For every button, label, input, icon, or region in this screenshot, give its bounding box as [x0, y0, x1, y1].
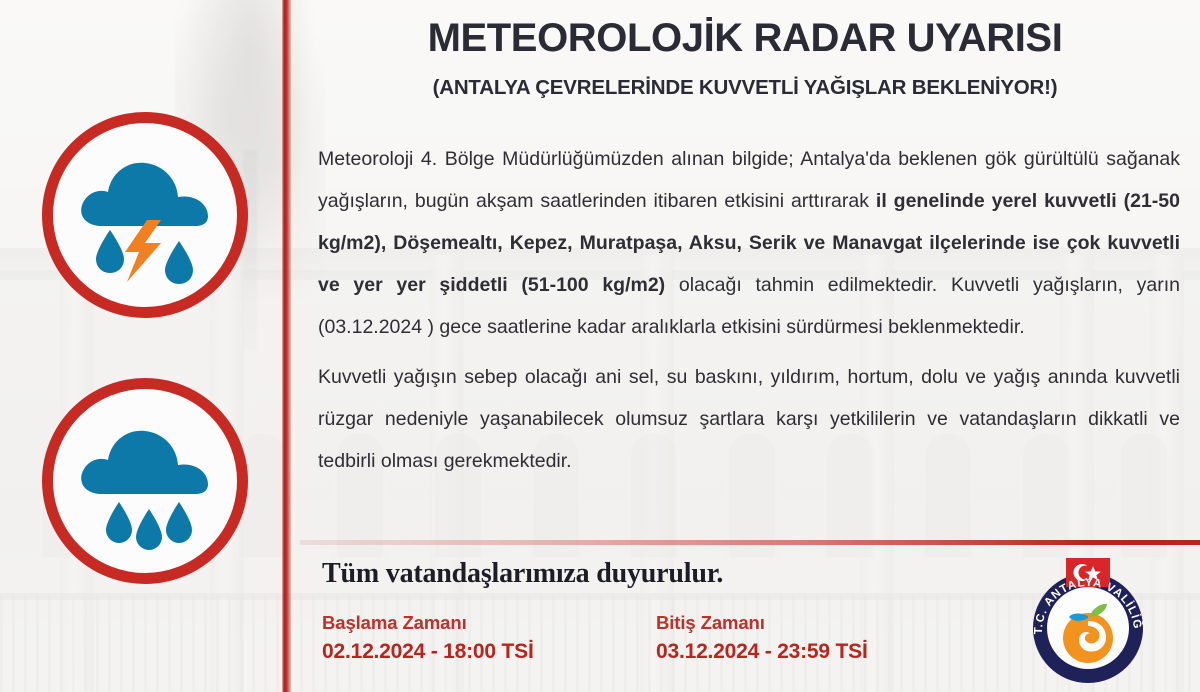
icon-rail: [0, 0, 286, 692]
thunderstorm-icon: [69, 140, 221, 290]
rain-cloud-icon-badge: [42, 378, 248, 584]
announcement-text: Tüm vatandaşlarımıza duyurulur.: [322, 558, 723, 590]
end-time-value: 03.12.2024 - 23:59 TSİ: [656, 640, 896, 664]
warning-paragraph-2: Kuvvetli yağışın sebep olacağı ani sel, …: [318, 356, 1180, 482]
warning-paragraph-1: Meteoroloji 4. Bölge Müdürlüğümüzden alı…: [318, 138, 1180, 348]
page-subtitle: (ANTALYA ÇEVRELERİNDE KUVVETLİ YAĞIŞLAR …: [300, 76, 1190, 100]
end-time-label: Bitiş Zamanı: [656, 612, 896, 634]
start-time-block: Başlama Zamanı 02.12.2024 - 18:00 TSİ: [322, 612, 562, 664]
antalya-valiligi-logo: T.C. ANTALYA VALİLİĞİ: [1022, 556, 1154, 688]
time-row: Başlama Zamanı 02.12.2024 - 18:00 TSİ Bi…: [322, 612, 896, 664]
page-title: METEOROLOJİK RADAR UYARISI: [300, 16, 1190, 61]
thunderstorm-icon-badge: [42, 112, 248, 318]
rain-cloud-icon: [69, 406, 221, 556]
start-time-label: Başlama Zamanı: [322, 612, 562, 634]
vertical-red-divider: [282, 0, 291, 692]
horizontal-red-divider: [300, 540, 1200, 545]
warning-body: Meteoroloji 4. Bölge Müdürlüğümüzden alı…: [318, 138, 1180, 482]
end-time-block: Bitiş Zamanı 03.12.2024 - 23:59 TSİ: [656, 612, 896, 664]
start-time-value: 02.12.2024 - 18:00 TSİ: [322, 640, 562, 664]
weather-warning-poster: METEOROLOJİK RADAR UYARISI (ANTALYA ÇEVR…: [0, 0, 1200, 692]
